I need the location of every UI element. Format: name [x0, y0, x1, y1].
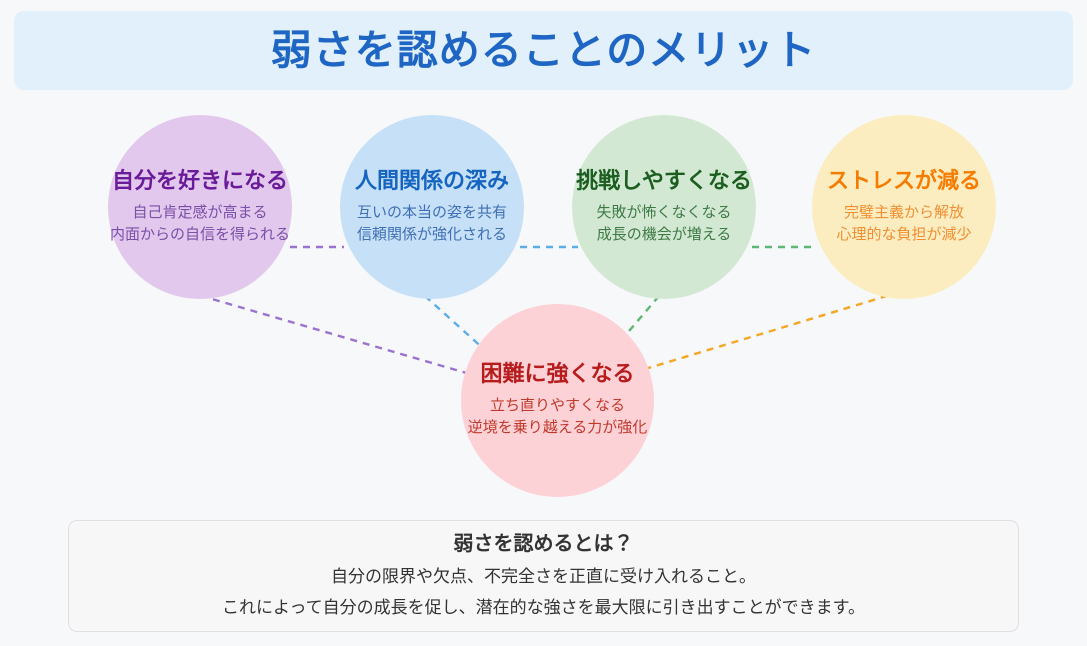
benefits-diagram: 自分を好きになる 自己肯定感が高まる 内面からの自信を得られる 人間関係の深み …: [0, 96, 1087, 506]
benefit-node-title: ストレスが減る: [827, 169, 981, 193]
summary-line-1: 自分の限界や欠点、不完全さを正直に受け入れること。: [331, 568, 756, 587]
benefit-node-title: 人間関係の深み: [355, 169, 509, 193]
benefit-node-desc-line1: 失敗が怖くなくなる: [596, 202, 731, 224]
benefit-node-desc-line2: 信頼関係が強化される: [357, 224, 507, 246]
benefit-node-title: 困難に強くなる: [480, 362, 634, 386]
connector-stress-to-resilience: [622, 292, 900, 376]
benefit-node-desc-line1: 完璧主義から解放: [844, 202, 964, 224]
benefit-node-desc-line1: 立ち直りやすくなる: [490, 395, 625, 417]
benefit-node-stress[interactable]: ストレスが減る 完璧主義から解放 心理的な負担が減少: [812, 115, 996, 299]
benefit-node-desc-line2: 逆境を乗り越える力が強化: [468, 417, 648, 439]
benefit-node-desc-line2: 心理的な負担が減少: [836, 224, 971, 246]
benefit-node-desc-line2: 成長の機会が増える: [597, 224, 732, 246]
summary-panel: 弱さを認めるとは？ 自分の限界や欠点、不完全さを正直に受け入れること。 これによ…: [68, 520, 1019, 632]
benefit-node-title: 自分を好きになる: [112, 169, 288, 193]
page-title-banner: 弱さを認めることのメリット: [14, 11, 1073, 90]
page-title: 弱さを認めることのメリット: [271, 30, 817, 71]
benefit-node-desc-line2: 内面からの自信を得られる: [110, 224, 290, 246]
benefit-node-relations[interactable]: 人間関係の深み 互いの本当の姿を共有 信頼関係が強化される: [340, 115, 524, 299]
benefit-node-self[interactable]: 自分を好きになる 自己肯定感が高まる 内面からの自信を得られる: [108, 115, 292, 299]
benefit-node-desc-line1: 自己肯定感が高まる: [132, 202, 267, 224]
benefit-node-resilience[interactable]: 困難に強くなる 立ち直りやすくなる 逆境を乗り越える力が強化: [461, 304, 654, 497]
benefit-node-challenge[interactable]: 挑戦しやすくなる 失敗が怖くなくなる 成長の機会が増える: [572, 115, 756, 299]
benefit-node-desc-line1: 互いの本当の姿を共有: [357, 202, 507, 224]
summary-heading: 弱さを認めるとは？: [454, 534, 634, 554]
benefit-node-title: 挑戦しやすくなる: [576, 169, 752, 193]
summary-line-2: これによって自分の成長を促し、潜在的な強さを最大限に引き出すことができます。: [222, 599, 865, 618]
connector-self-to-resilience: [188, 292, 487, 379]
